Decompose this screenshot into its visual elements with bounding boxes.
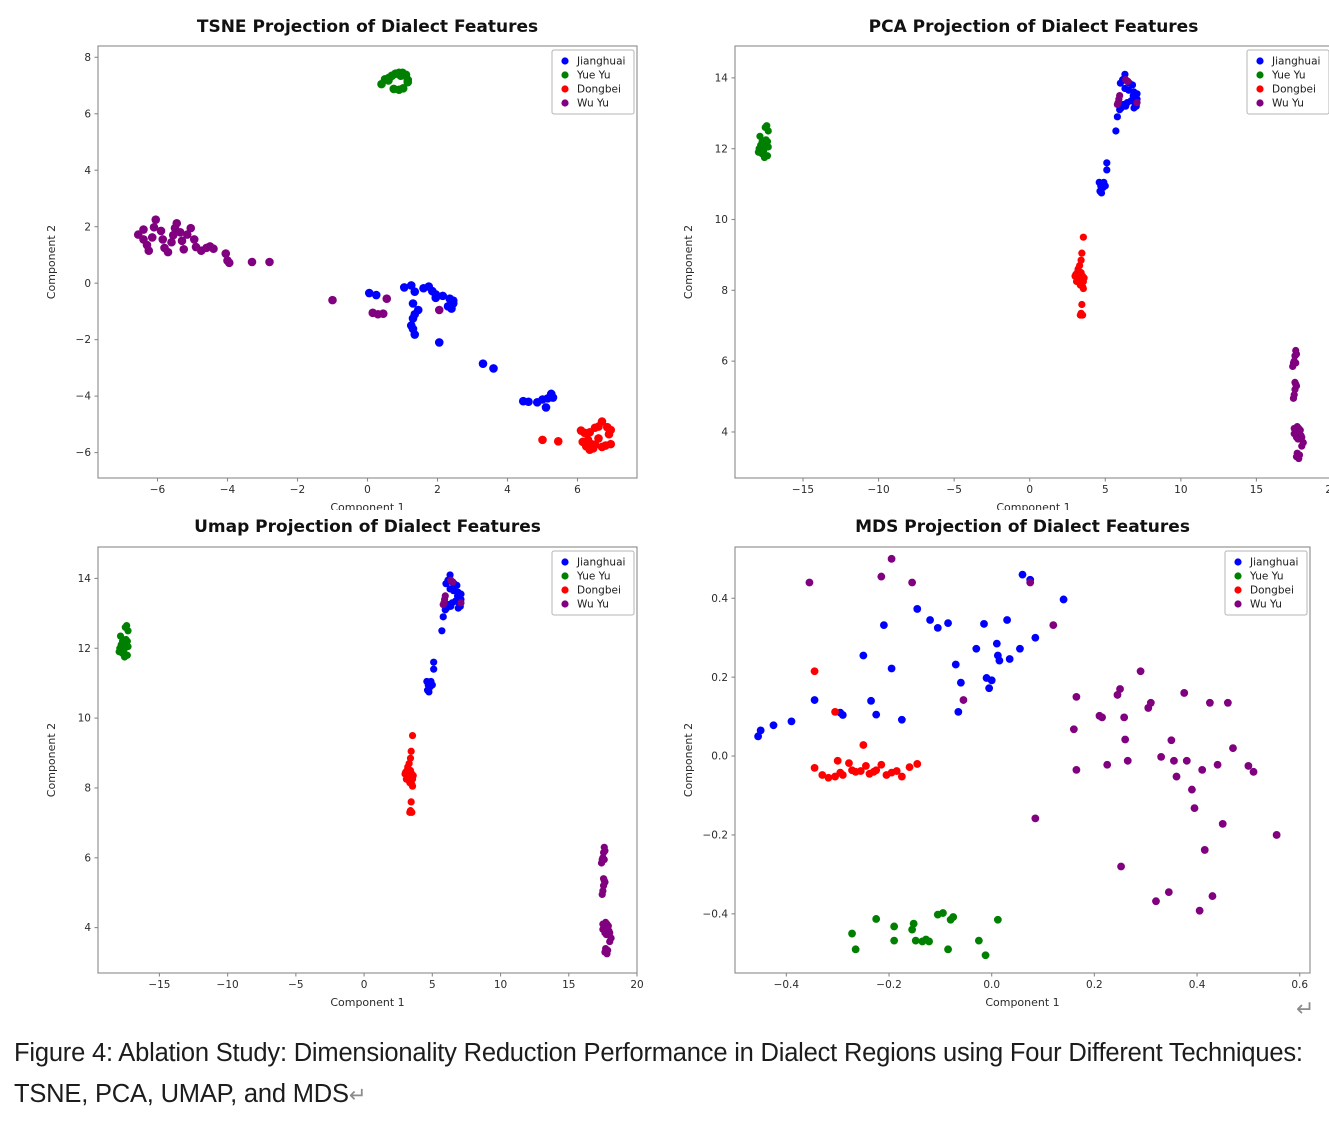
legend-label-yue-yu: Yue Yu (576, 70, 611, 82)
data-point (839, 771, 847, 779)
y-tick-label: −0.4 (703, 908, 729, 920)
data-point (1229, 744, 1237, 752)
y-tick-label: 6 (721, 356, 728, 368)
x-tick-label: −2 (290, 484, 305, 496)
data-point (1152, 897, 1160, 905)
data-point (265, 258, 274, 267)
data-point (157, 227, 166, 236)
pilcrow-mark-top: ↵ (1296, 996, 1314, 1022)
data-point (1157, 753, 1165, 761)
y-tick-label: −4 (76, 391, 92, 403)
data-point (446, 585, 453, 592)
data-point (425, 688, 432, 695)
data-point (908, 579, 916, 587)
y-tick-label: 0.4 (711, 593, 728, 605)
legend-marker-wu-yu (1256, 99, 1263, 106)
data-point (121, 653, 128, 660)
data-point (1293, 350, 1300, 357)
data-point (1060, 596, 1068, 604)
legend-label-dongbei: Dongbei (577, 585, 621, 597)
x-tick-label: −0.2 (876, 979, 902, 991)
y-tick-label: 10 (715, 214, 728, 226)
plot-frame (735, 547, 1310, 973)
data-point (1167, 736, 1175, 744)
y-tick-label: 8 (84, 783, 91, 795)
data-point (913, 605, 921, 613)
data-point (888, 665, 896, 673)
data-point (944, 619, 952, 627)
legend-label-wu-yu: Wu Yu (577, 599, 609, 611)
data-point (1102, 182, 1109, 189)
data-point (867, 697, 875, 705)
legend-marker-dongbei (561, 586, 568, 593)
y-tick-label: 12 (715, 143, 728, 155)
data-point (1117, 863, 1125, 871)
data-point (440, 613, 447, 620)
data-point (158, 235, 167, 244)
data-point (328, 296, 337, 305)
data-point (1019, 571, 1027, 579)
data-point (585, 445, 594, 454)
data-point (890, 923, 898, 931)
data-point (934, 624, 942, 632)
data-point (1183, 757, 1191, 765)
data-point (925, 938, 933, 946)
data-point (1124, 78, 1131, 85)
x-tick-label: −15 (148, 979, 170, 991)
panel-umap: Umap Projection of Dialect Features−15−1… (0, 505, 665, 1010)
legend-label-yue-yu: Yue Yu (576, 571, 611, 583)
data-point (601, 856, 608, 863)
data-point (1116, 685, 1124, 693)
data-point (578, 438, 587, 447)
data-point (430, 666, 437, 673)
data-point (1026, 579, 1034, 587)
data-point (988, 676, 996, 684)
x-tick-label: 0 (361, 979, 368, 991)
x-tick-label: −0.4 (774, 979, 800, 991)
y-tick-label: 6 (84, 108, 91, 120)
data-point (124, 643, 131, 650)
y-tick-label: 4 (84, 165, 91, 177)
data-point (1147, 699, 1155, 707)
data-point (960, 696, 968, 704)
legend-marker-dongbei (1234, 586, 1241, 593)
x-tick-label: 0.0 (983, 979, 1000, 991)
data-point (1292, 359, 1299, 366)
data-point (1137, 667, 1145, 675)
data-point (1070, 725, 1078, 733)
legend-label-dongbei: Dongbei (577, 84, 621, 96)
legend[interactable]: JianghuaiYue YuDongbeiWu Yu (552, 551, 634, 615)
data-point (429, 681, 436, 688)
data-point (248, 258, 257, 267)
x-tick-label: 10 (494, 979, 507, 991)
data-point (898, 716, 906, 724)
x-tick-label: 2 (434, 484, 441, 496)
data-point (144, 246, 153, 255)
data-point (457, 591, 464, 598)
data-point (1290, 395, 1297, 402)
legend-marker-wu-yu (561, 99, 568, 106)
data-point (806, 579, 814, 587)
data-point (985, 684, 993, 692)
data-point (1133, 90, 1140, 97)
data-point (408, 748, 415, 755)
data-point (186, 224, 195, 233)
data-point (449, 578, 456, 585)
data-point (1273, 831, 1281, 839)
data-point (190, 235, 199, 244)
data-point (430, 659, 437, 666)
data-point (549, 393, 558, 402)
data-point (1112, 127, 1119, 134)
data-point (1078, 250, 1085, 257)
legend-marker-yue-yu (1234, 572, 1241, 579)
data-point (1016, 645, 1024, 653)
y-tick-label: 10 (78, 713, 91, 725)
data-point (542, 403, 551, 412)
y-tick-label: 14 (715, 72, 729, 84)
data-point (845, 759, 853, 767)
data-point (554, 437, 563, 446)
data-point (877, 573, 885, 581)
data-point (410, 330, 419, 339)
data-point (379, 309, 388, 318)
legend-marker-wu-yu (1234, 600, 1241, 607)
data-point (179, 245, 188, 254)
x-tick-label: −5 (288, 979, 303, 991)
data-point (1214, 761, 1222, 769)
data-point (872, 915, 880, 923)
legend-label-wu-yu: Wu Yu (1272, 98, 1304, 110)
data-point (880, 621, 888, 629)
x-tick-label: 20 (630, 979, 643, 991)
data-point (765, 143, 772, 150)
data-point (1073, 693, 1081, 701)
data-point (872, 711, 880, 719)
data-point (811, 764, 819, 772)
x-tick-label: 0.6 (1291, 979, 1308, 991)
plot-title-pca: PCA Projection of Dialect Features (869, 17, 1199, 37)
data-point (1098, 714, 1106, 722)
data-point (151, 215, 160, 224)
data-point (1114, 113, 1121, 120)
data-point (1250, 768, 1258, 776)
plot-title-umap: Umap Projection of Dialect Features (194, 517, 541, 537)
data-point (1196, 907, 1204, 915)
data-point (606, 440, 615, 449)
data-point (440, 601, 447, 608)
x-tick-label: 4 (504, 484, 511, 496)
legend-label-dongbei: Dongbei (1272, 84, 1316, 96)
data-point (399, 84, 408, 93)
data-point (382, 294, 391, 303)
scatter-plot-pca: PCA Projection of Dialect Features−15−10… (665, 8, 1329, 510)
x-tick-label: 10 (1174, 484, 1187, 496)
panel-pca: PCA Projection of Dialect Features−15−10… (665, 8, 1329, 510)
data-point (489, 364, 498, 373)
y-tick-label: 0.0 (711, 751, 728, 763)
x-tick-label: 15 (562, 979, 575, 991)
x-tick-label: −5 (946, 484, 961, 496)
y-tick-label: 14 (78, 573, 92, 585)
data-point (225, 259, 234, 268)
x-tick-label: 6 (574, 484, 581, 496)
data-point (862, 762, 870, 770)
data-point (601, 847, 608, 854)
data-point (1103, 159, 1110, 166)
legend-marker-yue-yu (561, 71, 568, 78)
data-point (975, 937, 983, 945)
data-point (1206, 699, 1214, 707)
data-point (1120, 714, 1128, 722)
data-point (996, 657, 1004, 665)
data-point (435, 306, 444, 315)
data-point (1124, 757, 1132, 765)
y-tick-label: 0.2 (711, 672, 728, 684)
data-point (939, 909, 947, 917)
data-point (447, 304, 456, 313)
y-tick-label: 6 (84, 852, 91, 864)
legend[interactable]: JianghuaiYue YuDongbeiWu Yu (552, 50, 634, 114)
legend-label-yue-yu: Yue Yu (1271, 70, 1306, 82)
data-point (859, 741, 867, 749)
data-point (1180, 689, 1188, 697)
legend-marker-dongbei (561, 85, 568, 92)
y-axis-label: Component 2 (45, 723, 58, 797)
panel-tsne: TSNE Projection of Dialect Features−6−4−… (0, 8, 665, 510)
data-point (1049, 621, 1057, 629)
data-point (124, 627, 131, 634)
data-point (848, 930, 856, 938)
x-tick-label: 15 (1250, 484, 1263, 496)
plot-title-tsne: TSNE Projection of Dialect Features (197, 17, 538, 37)
data-point (538, 395, 547, 404)
x-tick-label: 20 (1325, 484, 1329, 496)
y-axis-label: Component 2 (682, 723, 695, 797)
data-point (605, 430, 614, 439)
data-point (890, 937, 898, 945)
x-tick-label: 0 (364, 484, 371, 496)
data-point (1121, 736, 1129, 744)
data-point (1209, 892, 1217, 900)
data-point (852, 945, 860, 953)
data-point (1078, 301, 1085, 308)
y-tick-label: 0 (84, 278, 91, 290)
data-point (859, 652, 867, 660)
data-point (906, 763, 914, 771)
data-point (164, 248, 173, 257)
data-point (431, 294, 440, 303)
data-point (408, 798, 415, 805)
x-tick-label: 5 (429, 979, 436, 991)
data-point (1170, 757, 1178, 765)
data-point (1003, 616, 1011, 624)
legend-marker-jianghuai (561, 57, 568, 64)
data-point (1077, 312, 1084, 319)
figure-caption: Figure 4: Ablation Study: Dimensionality… (14, 1033, 1314, 1116)
data-point (1133, 99, 1140, 106)
data-point (384, 76, 393, 85)
legend-marker-jianghuai (561, 558, 568, 565)
data-point (1080, 285, 1087, 292)
x-tick-label: 0 (1026, 484, 1033, 496)
legend-label-wu-yu: Wu Yu (1250, 599, 1282, 611)
legend[interactable]: JianghuaiYue YuDongbeiWu Yu (1225, 551, 1307, 615)
data-point (888, 555, 896, 563)
legend-marker-yue-yu (561, 572, 568, 579)
data-point (834, 757, 842, 765)
legend-label-yue-yu: Yue Yu (1249, 571, 1284, 583)
legend[interactable]: JianghuaiYue YuDongbeiWu Yu (1247, 50, 1329, 114)
data-point (994, 916, 1002, 924)
data-point (599, 926, 606, 933)
scatter-plot-mds: MDS Projection of Dialect Features−0.4−0… (665, 505, 1329, 1010)
x-tick-label: −6 (150, 484, 166, 496)
data-point (1293, 453, 1300, 460)
x-tick-label: −10 (867, 484, 889, 496)
data-point (944, 945, 952, 953)
legend-marker-jianghuai (1256, 57, 1263, 64)
data-point (409, 732, 416, 739)
scatter-plot-tsne: TSNE Projection of Dialect Features−6−4−… (0, 8, 665, 510)
data-point (1121, 85, 1128, 92)
data-point (910, 920, 918, 928)
panel-mds: MDS Projection of Dialect Features−0.4−0… (665, 505, 1329, 1010)
y-tick-label: 12 (78, 643, 91, 655)
data-point (926, 616, 934, 624)
data-point (524, 397, 533, 406)
data-point (1201, 846, 1209, 854)
data-point (409, 783, 416, 790)
data-point (765, 127, 772, 134)
data-point (1219, 820, 1227, 828)
x-tick-label: 5 (1102, 484, 1109, 496)
data-point (406, 809, 413, 816)
data-point (1224, 699, 1232, 707)
y-tick-label: 4 (84, 922, 91, 934)
plot-frame (735, 46, 1329, 478)
legend-marker-dongbei (1256, 85, 1263, 92)
data-point (954, 708, 962, 716)
data-point (1198, 766, 1206, 774)
data-point (449, 296, 458, 305)
figure-area: TSNE Projection of Dialect Features−6−4−… (0, 0, 1329, 1020)
plot-title-mds: MDS Projection of Dialect Features (855, 517, 1190, 537)
x-tick-label: −15 (792, 484, 814, 496)
legend-label-jianghuai: Jianghuai (1271, 56, 1320, 68)
data-point (788, 717, 796, 725)
data-point (811, 696, 819, 704)
data-point (172, 219, 181, 228)
data-point (435, 338, 444, 347)
data-point (372, 291, 381, 300)
data-point (993, 640, 1001, 648)
data-point (1073, 766, 1081, 774)
y-axis-label: Component 2 (45, 225, 58, 299)
data-point (825, 774, 833, 782)
data-point (1291, 430, 1298, 437)
data-point (1114, 101, 1121, 108)
legend-label-dongbei: Dongbei (1250, 585, 1294, 597)
data-point (877, 761, 885, 769)
y-tick-label: −2 (76, 334, 91, 346)
data-point (757, 727, 765, 735)
data-point (1122, 103, 1129, 110)
data-point (1098, 189, 1105, 196)
data-point (982, 951, 990, 959)
data-point (410, 287, 419, 296)
x-tick-label: 0.2 (1086, 979, 1103, 991)
data-point (957, 679, 965, 687)
data-point (761, 154, 768, 161)
data-point (1080, 234, 1087, 241)
data-point (1031, 814, 1039, 822)
data-point (1188, 786, 1196, 794)
legend-marker-yue-yu (1256, 71, 1263, 78)
x-tick-label: 0.4 (1189, 979, 1206, 991)
data-point (1291, 379, 1298, 386)
y-axis-label: Component 2 (682, 225, 695, 299)
y-tick-label: 4 (721, 427, 728, 439)
data-point (601, 948, 608, 955)
scatter-plot-umap: Umap Projection of Dialect Features−15−1… (0, 505, 665, 1010)
data-point (599, 891, 606, 898)
legend-label-jianghuai: Jianghuai (1249, 557, 1298, 569)
data-point (1244, 762, 1252, 770)
legend-label-wu-yu: Wu Yu (577, 98, 609, 110)
x-axis-label: Component 1 (985, 996, 1059, 1009)
data-point (1103, 166, 1110, 173)
data-point (1173, 773, 1181, 781)
data-point (1103, 761, 1111, 769)
data-point (606, 938, 613, 945)
data-point (600, 875, 607, 882)
data-point (898, 773, 906, 781)
legend-marker-jianghuai (1234, 558, 1241, 565)
data-point (438, 627, 445, 634)
data-point (1006, 655, 1014, 663)
data-point (1031, 634, 1039, 642)
data-point (1298, 443, 1305, 450)
data-point (457, 599, 464, 606)
data-point (839, 711, 847, 719)
x-tick-label: −10 (217, 979, 239, 991)
data-point (972, 645, 980, 653)
data-point (831, 708, 839, 716)
data-point (148, 233, 157, 242)
data-point (770, 721, 778, 729)
data-point (479, 359, 488, 368)
data-point (1165, 888, 1173, 896)
data-point (952, 661, 960, 669)
y-tick-label: 8 (721, 285, 728, 297)
x-tick-label: −4 (220, 484, 236, 496)
x-axis-label: Component 1 (330, 996, 404, 1009)
y-tick-label: 8 (84, 52, 91, 64)
legend-label-jianghuai: Jianghuai (576, 557, 625, 569)
legend-label-jianghuai: Jianghuai (576, 56, 625, 68)
data-point (949, 913, 957, 921)
data-point (396, 71, 405, 80)
data-point (1191, 804, 1199, 812)
pilcrow-mark-caption: ↵ (349, 1084, 366, 1107)
legend-marker-wu-yu (561, 600, 568, 607)
data-point (209, 244, 218, 253)
y-tick-label: −0.2 (703, 830, 729, 842)
data-point (980, 620, 988, 628)
